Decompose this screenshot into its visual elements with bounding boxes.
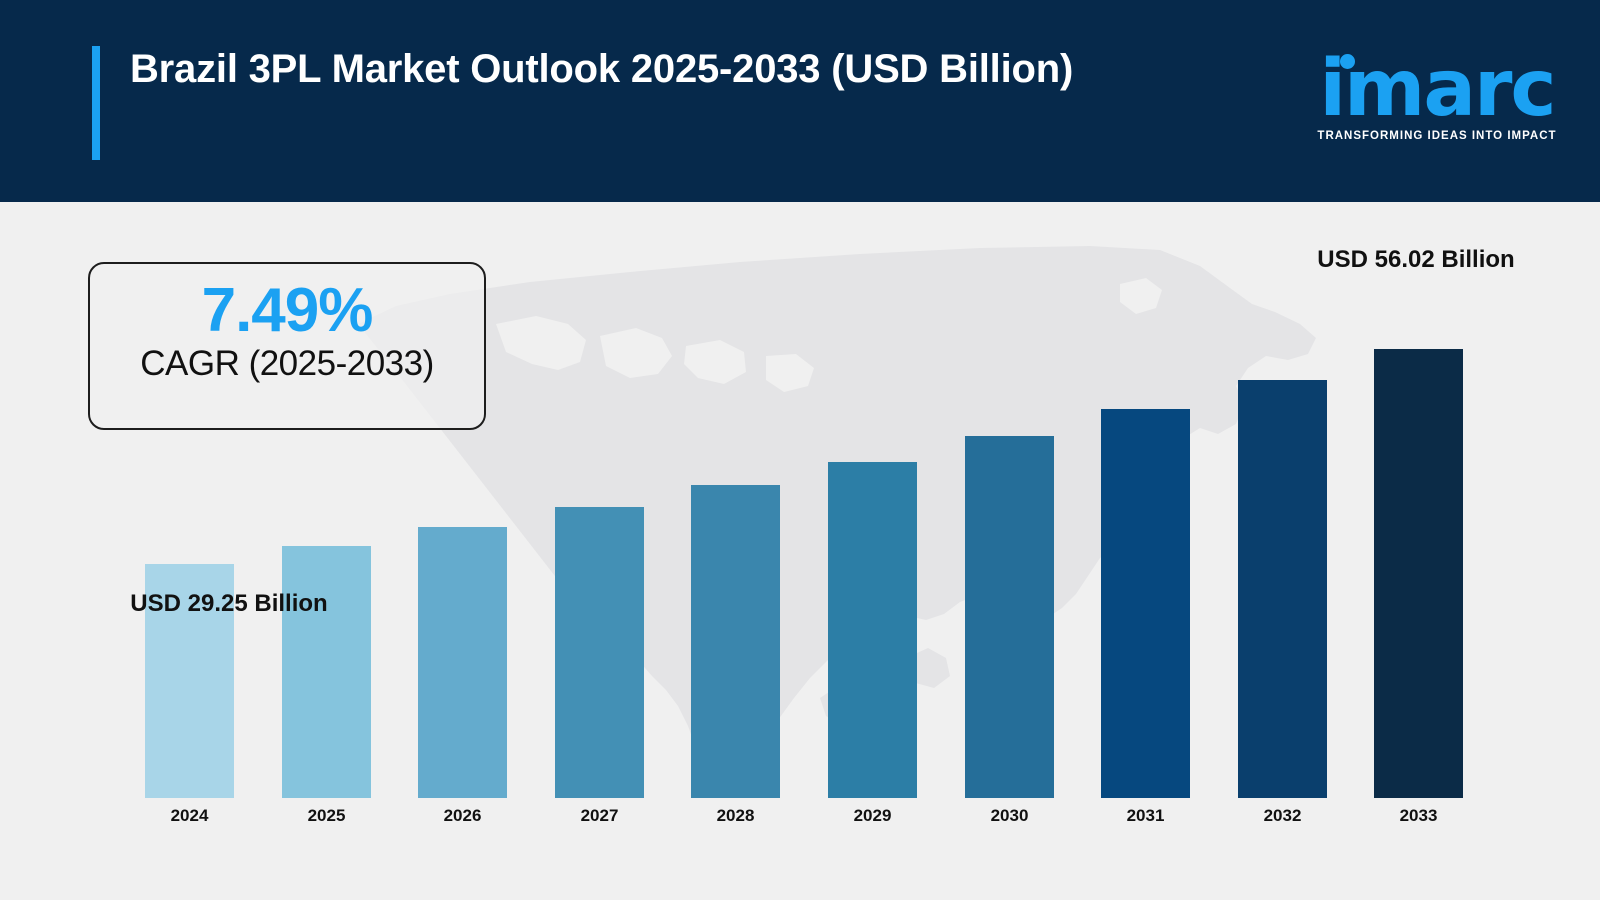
start-value-callout: USD 29.25 Billion [96, 588, 362, 621]
x-axis-label-2031: 2031 [1101, 806, 1190, 826]
cagr-badge: 7.49% CAGR (2025-2033) [88, 262, 486, 430]
bar-2028 [691, 485, 780, 798]
x-axis-label-2033: 2033 [1374, 806, 1463, 826]
bar-2025 [282, 546, 371, 798]
page-title: Brazil 3PL Market Outlook 2025-2033 (USD… [130, 42, 1180, 97]
bar-2026 [418, 527, 507, 798]
header-accent-bar [92, 46, 100, 160]
cagr-value: 7.49% [90, 278, 484, 343]
x-axis-label-2024: 2024 [145, 806, 234, 826]
bar-2029 [828, 462, 917, 798]
imarc-logo: imarc TRANSFORMING IDEAS INTO IMPACT [1302, 42, 1572, 152]
bar-2030 [965, 436, 1054, 798]
x-axis-label-2027: 2027 [555, 806, 644, 826]
bar-2027 [555, 507, 644, 798]
x-axis-label-2028: 2028 [691, 806, 780, 826]
logo-wordmark: imarc [1302, 50, 1572, 128]
x-axis-label-2030: 2030 [965, 806, 1054, 826]
x-axis-label-2032: 2032 [1238, 806, 1327, 826]
bar-2032 [1238, 380, 1327, 798]
end-value-callout: USD 56.02 Billion [1280, 244, 1552, 277]
bar-2031 [1101, 409, 1190, 798]
x-axis-label-2025: 2025 [282, 806, 371, 826]
infographic-canvas: 2024202520262027202820292030203120322033… [0, 0, 1600, 900]
logo-tagline: TRANSFORMING IDEAS INTO IMPACT [1302, 130, 1572, 142]
header-bar: Brazil 3PL Market Outlook 2025-2033 (USD… [0, 0, 1600, 202]
bar-2033 [1374, 349, 1463, 798]
x-axis-label-2029: 2029 [828, 806, 917, 826]
cagr-label: CAGR (2025-2033) [90, 345, 484, 384]
x-axis-label-2026: 2026 [418, 806, 507, 826]
